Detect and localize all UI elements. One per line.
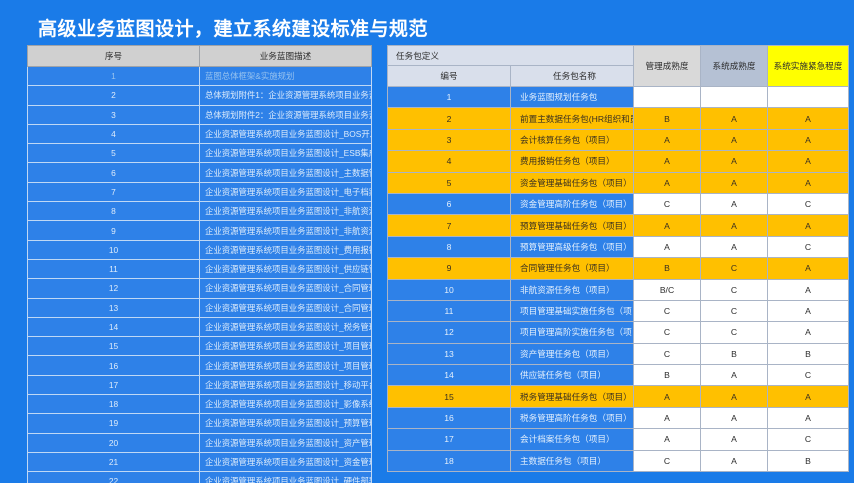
table-row: 18企业资源管理系统项目业务蓝图设计_影像系统 (28, 395, 372, 414)
right-row-no: 1 (388, 87, 511, 108)
left-row-no: 14 (28, 317, 200, 336)
left-row-description: 企业资源管理系统项目业务蓝图设计_项目管理(业务蓝图 (200, 356, 372, 375)
right-row-urgency: A (768, 172, 849, 193)
right-row-urgency: C (768, 193, 849, 214)
right-row-no: 13 (388, 343, 511, 364)
right-row-no: 11 (388, 300, 511, 321)
right-row-mgmt-maturity: A (634, 236, 701, 257)
blueprint-description-table: 序号 业务蓝图描述 1蓝图总体框架&实施规划2总体规划附件1：企业资源管理系统项… (27, 45, 372, 483)
left-header-desc: 业务蓝图描述 (200, 46, 372, 67)
right-row-sys-maturity: A (701, 450, 768, 471)
right-row-name: 资金管理基础任务包（项目） (511, 172, 634, 193)
left-table-body: 1蓝图总体框架&实施规划2总体规划附件1：企业资源管理系统项目业务蓝图设计_实施… (28, 67, 372, 483)
left-row-description: 企业资源管理系统项目业务蓝图设计_费用报销 (200, 240, 372, 259)
table-row: 16企业资源管理系统项目业务蓝图设计_项目管理(业务蓝图 (28, 356, 372, 375)
right-row-no: 15 (388, 386, 511, 407)
right-row-no: 3 (388, 129, 511, 150)
table-row: 14企业资源管理系统项目业务蓝图设计_税务管理 (28, 317, 372, 336)
right-header-group-definition: 任务包定义 (388, 46, 634, 66)
page-title: 高级业务蓝图设计，建立系统建设标准与规范 (38, 14, 428, 41)
right-row-no: 4 (388, 151, 511, 172)
right-table-group-header-row: 任务包定义 管理成熟度 系统成熟度 系统实施紧急程度 (388, 46, 849, 66)
table-row: 19企业资源管理系统项目业务蓝图设计_预算管理 (28, 414, 372, 433)
right-row-urgency: C (768, 365, 849, 386)
right-row-urgency: A (768, 300, 849, 321)
right-row-no: 6 (388, 193, 511, 214)
right-row-mgmt-maturity: A (634, 151, 701, 172)
table-row: 6资金管理高阶任务包（项目）CAC (388, 193, 849, 214)
left-row-description: 企业资源管理系统项目业务蓝图设计_预算管理 (200, 414, 372, 433)
right-row-mgmt-maturity: C (634, 343, 701, 364)
right-row-name: 项目管理基础实施任务包（项目） (511, 300, 634, 321)
right-row-urgency: A (768, 258, 849, 279)
left-row-no: 16 (28, 356, 200, 375)
slide-canvas: 高级业务蓝图设计，建立系统建设标准与规范 序号 业务蓝图描述 1蓝图总体框架&实… (0, 0, 854, 483)
left-table-head: 序号 业务蓝图描述 (28, 46, 372, 67)
right-row-urgency (768, 87, 849, 108)
right-row-name: 税务管理高阶任务包（项目） (511, 407, 634, 428)
right-row-name: 前置主数据任务包(HR组织和员工数据) (511, 108, 634, 129)
right-row-no: 7 (388, 215, 511, 236)
right-row-sys-maturity: A (701, 129, 768, 150)
left-table-header-row: 序号 业务蓝图描述 (28, 46, 372, 67)
right-row-name: 非航资源任务包（项目） (511, 279, 634, 300)
table-row: 6企业资源管理系统项目业务蓝图设计_主数据管理 (28, 163, 372, 182)
left-row-no: 15 (28, 337, 200, 356)
table-row: 5企业资源管理系统项目业务蓝图设计_ESB集成管理 (28, 144, 372, 163)
left-row-no: 5 (28, 144, 200, 163)
right-row-name: 主数据任务包（项目） (511, 450, 634, 471)
table-row: 13企业资源管理系统项目业务蓝图设计_合同管理(业务蓝图) (28, 298, 372, 317)
left-row-no: 20 (28, 433, 200, 452)
table-row: 9企业资源管理系统项目业务蓝图设计_非航资源管理（业务蓝图） (28, 221, 372, 240)
right-row-sys-maturity: A (701, 151, 768, 172)
right-row-mgmt-maturity: C (634, 450, 701, 471)
table-row: 1蓝图总体框架&实施规划 (28, 67, 372, 86)
right-row-sys-maturity: A (701, 108, 768, 129)
left-row-no: 2 (28, 86, 200, 105)
table-row: 7预算管理基础任务包（项目）AAA (388, 215, 849, 236)
right-row-name: 合同管理任务包（项目） (511, 258, 634, 279)
right-row-urgency: A (768, 386, 849, 407)
right-row-mgmt-maturity: B (634, 108, 701, 129)
right-row-name: 业务蓝图规划任务包 (511, 87, 634, 108)
table-row: 8企业资源管理系统项目业务蓝图设计_非航资源管理（开发方案） (28, 202, 372, 221)
left-row-no: 12 (28, 279, 200, 298)
right-row-no: 14 (388, 365, 511, 386)
right-row-sys-maturity: C (701, 300, 768, 321)
right-row-name: 资金管理高阶任务包（项目） (511, 193, 634, 214)
right-header-urgency: 系统实施紧急程度 (768, 46, 849, 87)
right-row-name: 税务管理基础任务包（项目） (511, 386, 634, 407)
right-row-sys-maturity: A (701, 365, 768, 386)
table-row: 2总体规划附件1：企业资源管理系统项目业务蓝图设计_实施路径 (28, 86, 372, 105)
left-row-description: 企业资源管理系统项目业务蓝图设计_ESB集成管理 (200, 144, 372, 163)
table-row: 15企业资源管理系统项目业务蓝图设计_项目管理(开发方案） (28, 337, 372, 356)
right-row-sys-maturity: A (701, 407, 768, 428)
left-row-description: 企业资源管理系统项目业务蓝图设计_合同管理(开发方案) (200, 279, 372, 298)
right-row-sys-maturity: A (701, 429, 768, 450)
right-row-no: 16 (388, 407, 511, 428)
right-row-mgmt-maturity: C (634, 193, 701, 214)
left-row-description: 企业资源管理系统项目业务蓝图设计_影像系统 (200, 395, 372, 414)
left-row-description: 企业资源管理系统项目业务蓝图设计_BOS开发平台 (200, 124, 372, 143)
right-row-sys-maturity: B (701, 343, 768, 364)
right-row-urgency: A (768, 129, 849, 150)
table-row: 21企业资源管理系统项目业务蓝图设计_资金管理 (28, 452, 372, 471)
right-table-head: 任务包定义 管理成熟度 系统成熟度 系统实施紧急程度 编号 任务包名称 (388, 46, 849, 87)
right-row-urgency: A (768, 407, 849, 428)
right-row-name: 会计档案任务包（项目） (511, 429, 634, 450)
left-row-no: 6 (28, 163, 200, 182)
left-row-description: 企业资源管理系统项目业务蓝图设计_非航资源管理（业务蓝图） (200, 221, 372, 240)
left-row-description: 总体规划附件1：企业资源管理系统项目业务蓝图设计_实施路径 (200, 86, 372, 105)
right-row-no: 12 (388, 322, 511, 343)
left-row-no: 17 (28, 375, 200, 394)
left-row-no: 13 (28, 298, 200, 317)
left-row-no: 7 (28, 182, 200, 201)
right-row-urgency: A (768, 151, 849, 172)
left-row-description: 蓝图总体框架&实施规划 (200, 67, 372, 86)
right-row-mgmt-maturity: A (634, 429, 701, 450)
table-row: 17企业资源管理系统项目业务蓝图设计_移动平台 (28, 375, 372, 394)
left-row-description: 企业资源管理系统项目业务蓝图设计_资产管理 (200, 433, 372, 452)
right-row-mgmt-maturity: A (634, 386, 701, 407)
left-row-description: 企业资源管理系统项目业务蓝图设计_非航资源管理（开发方案） (200, 202, 372, 221)
table-row: 14供应链任务包（项目）BAC (388, 365, 849, 386)
left-row-description: 企业资源管理系统项目业务蓝图设计_电子档案管理 (200, 182, 372, 201)
left-row-description: 企业资源管理系统项目业务蓝图设计_硬件部署方案 (200, 472, 372, 483)
left-row-description: 企业资源管理系统项目业务蓝图设计_主数据管理 (200, 163, 372, 182)
right-row-sys-maturity: A (701, 215, 768, 236)
right-row-no: 9 (388, 258, 511, 279)
left-row-description: 企业资源管理系统项目业务蓝图设计_税务管理 (200, 317, 372, 336)
task-package-definition-table: 任务包定义 管理成熟度 系统成熟度 系统实施紧急程度 编号 任务包名称 1业务蓝… (387, 45, 849, 472)
left-row-no: 8 (28, 202, 200, 221)
table-row: 4企业资源管理系统项目业务蓝图设计_BOS开发平台 (28, 124, 372, 143)
right-row-mgmt-maturity (634, 87, 701, 108)
table-row: 20企业资源管理系统项目业务蓝图设计_资产管理 (28, 433, 372, 452)
right-row-urgency: A (768, 322, 849, 343)
right-header-sys-maturity: 系统成熟度 (701, 46, 768, 87)
right-row-mgmt-maturity: A (634, 215, 701, 236)
left-row-no: 4 (28, 124, 200, 143)
table-row: 3总体规划附件2：企业资源管理系统项目业务蓝图设计_系统集成矩阵 (28, 105, 372, 124)
left-row-description: 企业资源管理系统项目业务蓝图设计_项目管理(开发方案） (200, 337, 372, 356)
right-row-name: 预算管理高级任务包（项目） (511, 236, 634, 257)
table-row: 12企业资源管理系统项目业务蓝图设计_合同管理(开发方案) (28, 279, 372, 298)
right-row-sys-maturity: A (701, 172, 768, 193)
right-row-mgmt-maturity: A (634, 172, 701, 193)
right-row-name: 供应链任务包（项目） (511, 365, 634, 386)
table-row: 9合同管理任务包（项目）BCA (388, 258, 849, 279)
left-row-no: 10 (28, 240, 200, 259)
table-row: 11项目管理基础实施任务包（项目）CCA (388, 300, 849, 321)
right-row-urgency: A (768, 215, 849, 236)
right-row-urgency: C (768, 429, 849, 450)
right-row-no: 18 (388, 450, 511, 471)
right-row-sys-maturity: A (701, 236, 768, 257)
right-header-mgmt-maturity: 管理成熟度 (634, 46, 701, 87)
table-row: 5资金管理基础任务包（项目）AAA (388, 172, 849, 193)
right-table-body: 1业务蓝图规划任务包2前置主数据任务包(HR组织和员工数据)BAA3会计核算任务… (388, 87, 849, 472)
right-row-mgmt-maturity: C (634, 300, 701, 321)
right-header-name: 任务包名称 (511, 66, 634, 87)
table-row: 4费用报销任务包（项目）AAA (388, 151, 849, 172)
right-row-no: 10 (388, 279, 511, 300)
left-row-no: 21 (28, 452, 200, 471)
left-row-no: 9 (28, 221, 200, 240)
right-row-sys-maturity: A (701, 193, 768, 214)
right-row-mgmt-maturity: C (634, 322, 701, 343)
right-row-mgmt-maturity: A (634, 129, 701, 150)
right-row-sys-maturity: C (701, 279, 768, 300)
right-row-name: 预算管理基础任务包（项目） (511, 215, 634, 236)
right-row-no: 8 (388, 236, 511, 257)
left-header-no: 序号 (28, 46, 200, 67)
right-row-urgency: A (768, 279, 849, 300)
right-row-name: 资产管理任务包（项目） (511, 343, 634, 364)
left-row-description: 企业资源管理系统项目业务蓝图设计_资金管理 (200, 452, 372, 471)
right-row-urgency: B (768, 450, 849, 471)
left-row-no: 11 (28, 259, 200, 278)
table-row: 13资产管理任务包（项目）CBB (388, 343, 849, 364)
left-row-no: 22 (28, 472, 200, 483)
left-row-no: 3 (28, 105, 200, 124)
right-row-no: 5 (388, 172, 511, 193)
right-row-name: 费用报销任务包（项目） (511, 151, 634, 172)
table-row: 18主数据任务包（项目）CAB (388, 450, 849, 471)
right-row-urgency: B (768, 343, 849, 364)
table-row: 1业务蓝图规划任务包 (388, 87, 849, 108)
left-row-no: 18 (28, 395, 200, 414)
right-row-mgmt-maturity: B (634, 365, 701, 386)
right-row-sys-maturity: A (701, 386, 768, 407)
left-row-no: 19 (28, 414, 200, 433)
table-row: 15税务管理基础任务包（项目）AAA (388, 386, 849, 407)
left-row-description: 总体规划附件2：企业资源管理系统项目业务蓝图设计_系统集成矩阵 (200, 105, 372, 124)
table-row: 17会计档案任务包（项目）AAC (388, 429, 849, 450)
right-row-mgmt-maturity: B (634, 258, 701, 279)
right-row-sys-maturity: C (701, 258, 768, 279)
right-row-urgency: A (768, 108, 849, 129)
table-row: 12项目管理高阶实施任务包（项目）CCA (388, 322, 849, 343)
right-row-urgency: C (768, 236, 849, 257)
table-row: 2前置主数据任务包(HR组织和员工数据)BAA (388, 108, 849, 129)
table-row: 10企业资源管理系统项目业务蓝图设计_费用报销 (28, 240, 372, 259)
right-row-mgmt-maturity: A (634, 407, 701, 428)
table-row: 11企业资源管理系统项目业务蓝图设计_供应链管理 (28, 259, 372, 278)
right-row-no: 17 (388, 429, 511, 450)
table-row: 10非航资源任务包（项目）B/CCA (388, 279, 849, 300)
table-row: 7企业资源管理系统项目业务蓝图设计_电子档案管理 (28, 182, 372, 201)
right-header-no: 编号 (388, 66, 511, 87)
left-row-description: 企业资源管理系统项目业务蓝图设计_移动平台 (200, 375, 372, 394)
left-row-description: 企业资源管理系统项目业务蓝图设计_供应链管理 (200, 259, 372, 278)
right-row-sys-maturity (701, 87, 768, 108)
left-row-no: 1 (28, 67, 200, 86)
right-row-mgmt-maturity: B/C (634, 279, 701, 300)
right-row-no: 2 (388, 108, 511, 129)
table-row: 3会计核算任务包（项目）AAA (388, 129, 849, 150)
table-row: 8预算管理高级任务包（项目）AAC (388, 236, 849, 257)
left-row-description: 企业资源管理系统项目业务蓝图设计_合同管理(业务蓝图) (200, 298, 372, 317)
right-row-sys-maturity: C (701, 322, 768, 343)
table-row: 16税务管理高阶任务包（项目）AAA (388, 407, 849, 428)
table-row: 22企业资源管理系统项目业务蓝图设计_硬件部署方案 (28, 472, 372, 483)
right-row-name: 项目管理高阶实施任务包（项目） (511, 322, 634, 343)
right-row-name: 会计核算任务包（项目） (511, 129, 634, 150)
